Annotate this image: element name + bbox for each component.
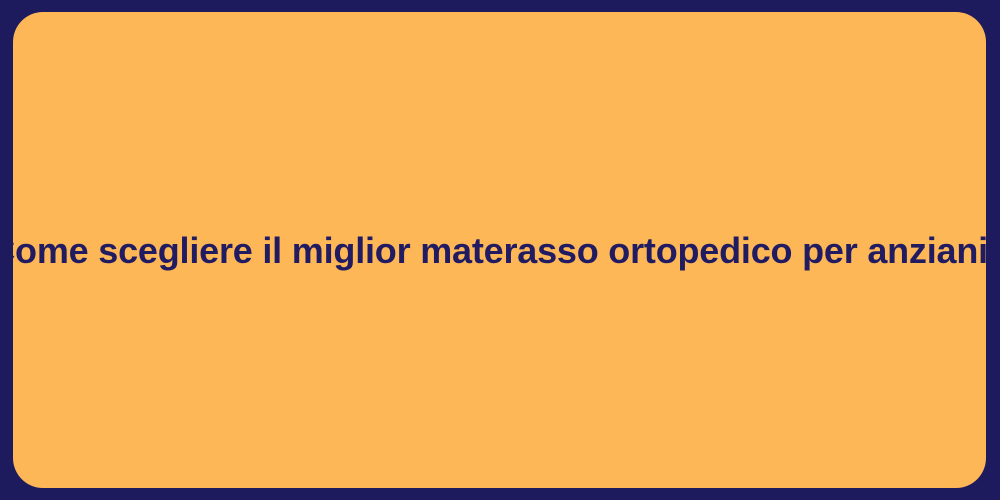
banner-card: Come scegliere il miglior materasso orto… [13, 12, 986, 488]
page-title: Come scegliere il miglior materasso orto… [13, 228, 986, 273]
banner-frame: Come scegliere il miglior materasso orto… [0, 0, 1000, 500]
